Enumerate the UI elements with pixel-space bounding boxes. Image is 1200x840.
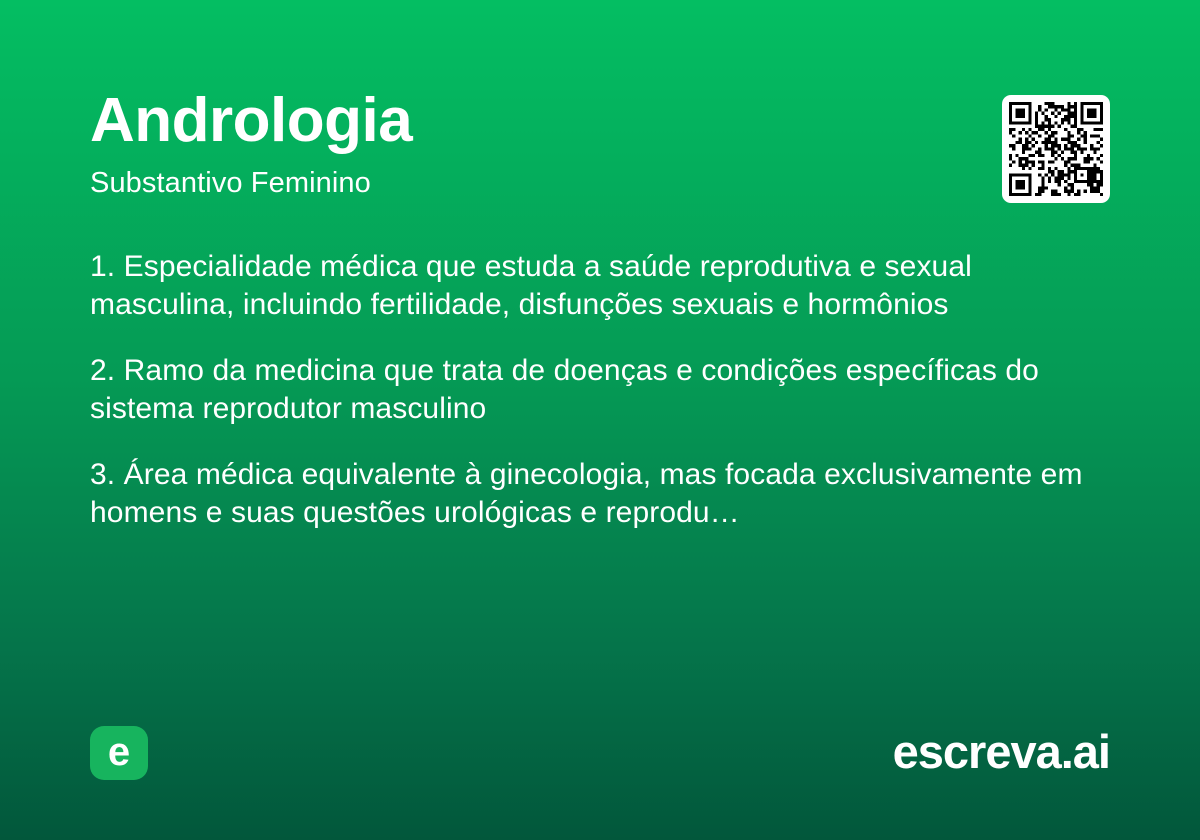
qr-code-icon (1009, 102, 1103, 196)
word-class-label: Substantivo Feminino (90, 167, 371, 200)
definition-item: 2. Ramo da medicina que trata de doenças… (90, 352, 1110, 428)
qr-code-container[interactable] (1002, 95, 1110, 203)
brand-logo[interactable]: e (90, 726, 148, 780)
brand-wordmark: escreva.ai (893, 724, 1110, 780)
page-title: Andrologia (90, 88, 412, 153)
definition-item: 3. Área médica equivalente à ginecologia… (90, 456, 1110, 532)
definitions-list: 1. Especialidade médica que estuda a saú… (90, 248, 1110, 532)
definition-item: 1. Especialidade médica que estuda a saú… (90, 248, 1110, 324)
brand-logo-letter: e (108, 732, 130, 772)
